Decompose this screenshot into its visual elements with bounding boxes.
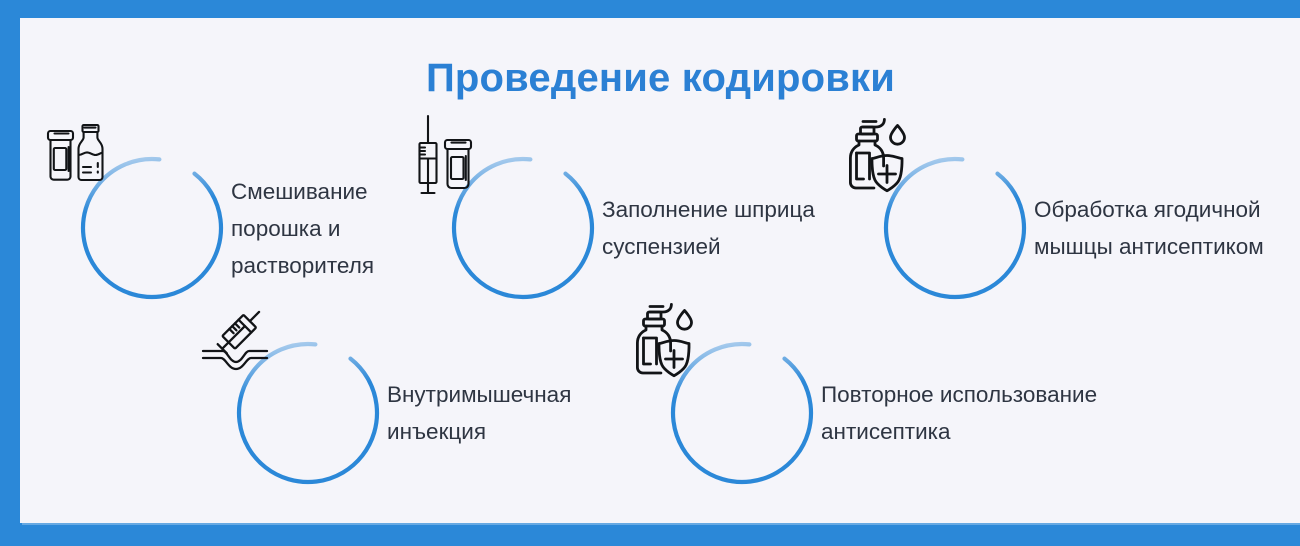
step-label: Смешивание порошка и растворителя — [231, 173, 406, 284]
page-title: Проведение кодировки — [20, 56, 1300, 101]
step-item-injection[interactable]: Внутримышечная инъекция — [235, 340, 612, 486]
step-circle — [235, 340, 381, 486]
step-label: Заполнение шприца суспензией — [602, 191, 852, 265]
step-item-mixing[interactable]: Смешивание порошка и растворителя — [79, 155, 406, 301]
step-item-antiseptic-gluteal[interactable]: Обработка ягодичной мышцы антисептиком — [882, 155, 1296, 301]
step-circle — [882, 155, 1028, 301]
step-circle — [450, 155, 596, 301]
intramuscular-injection-icon — [193, 298, 277, 382]
step-item-fill-syringe[interactable]: Заполнение шприца суспензией — [450, 155, 852, 301]
antiseptic-bottle-shield-icon — [840, 113, 924, 197]
step-label: Обработка ягодичной мышцы антисептиком — [1034, 191, 1296, 265]
infographic-frame: Проведение кодировки — [0, 0, 1300, 546]
antiseptic-bottle-shield-icon — [627, 298, 711, 382]
step-label: Повторное использование антисептика — [821, 376, 1141, 450]
step-label: Внутримышечная инъекция — [387, 376, 612, 450]
infographic-panel: Проведение кодировки — [20, 18, 1300, 523]
step-item-antiseptic-repeat[interactable]: Повторное использование антисептика — [669, 340, 1141, 486]
step-circle — [79, 155, 225, 301]
step-circle — [669, 340, 815, 486]
two-vials-icon — [37, 113, 121, 197]
syringe-and-vial-icon — [408, 113, 492, 197]
